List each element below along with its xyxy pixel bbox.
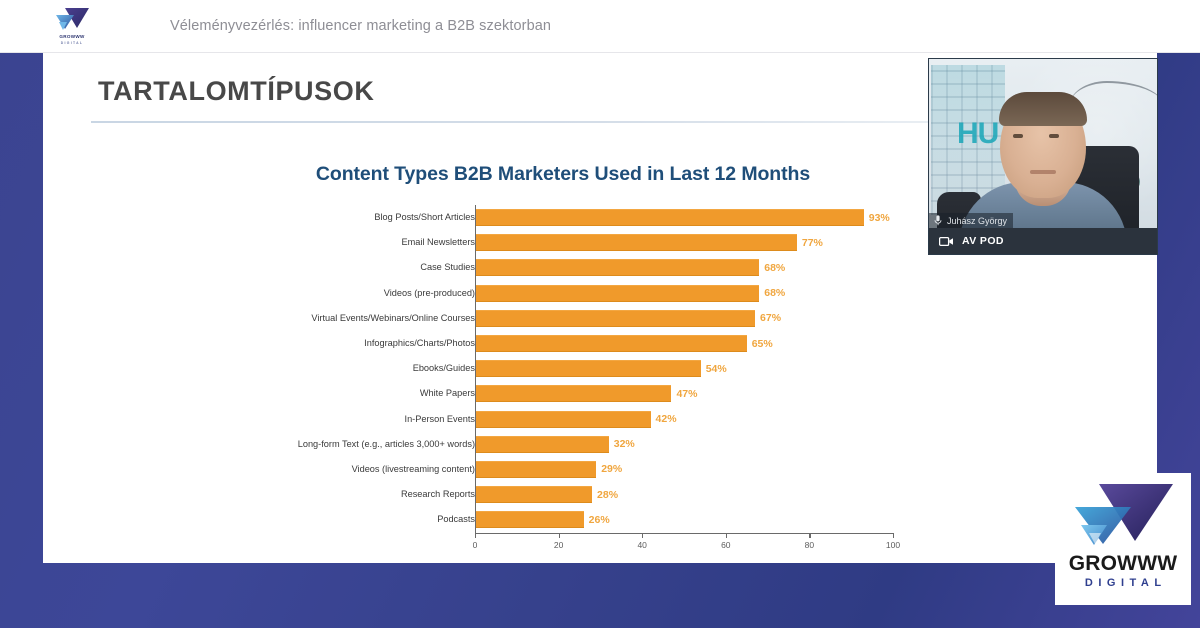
bar: [475, 411, 651, 428]
bar-row: Email Newsletters77%: [193, 230, 933, 255]
bar-row: Videos (pre-produced)68%: [193, 281, 933, 306]
chart-plot-area: Blog Posts/Short Articles93%Email Newsle…: [193, 205, 933, 535]
bar-row: Research Reports28%: [193, 482, 933, 507]
participant-name-bar: Juhász György: [929, 213, 1013, 228]
bar-category-label: Blog Posts/Short Articles: [215, 212, 475, 223]
bar: [475, 335, 747, 352]
bar: [475, 209, 864, 226]
bar: [475, 285, 759, 302]
bar-track: 68%: [475, 255, 893, 280]
bar-row: In-Person Events42%: [193, 407, 933, 432]
bar-value-label: 29%: [601, 463, 622, 475]
participant-name: Juhász György: [947, 216, 1007, 226]
header-logo-wordmark: GROWWW DIGITAL: [59, 34, 84, 46]
bar-row: Podcasts26%: [193, 507, 933, 532]
bar: [475, 461, 596, 478]
bar-track: 42%: [475, 407, 893, 432]
video-camera-icon: [939, 236, 954, 247]
bar-category-label: Videos (livestreaming content): [215, 464, 475, 475]
bar: [475, 234, 797, 251]
bar-track: 28%: [475, 482, 893, 507]
bar-row: Virtual Events/Webinars/Online Courses67…: [193, 306, 933, 331]
screen: GROWWW DIGITAL Véleményvezérlés: influen…: [0, 0, 1200, 628]
bar-value-label: 67%: [760, 312, 781, 324]
bar-category-label: In-Person Events: [215, 414, 475, 425]
bar-track: 32%: [475, 432, 893, 457]
webcam-video-tile[interactable]: HU RO Juhász György: [928, 58, 1158, 255]
bar-value-label: 77%: [802, 237, 823, 249]
bar-value-label: 26%: [589, 514, 610, 526]
brand-logo-box: GROWWW DIGITAL: [1055, 473, 1191, 605]
bar-track: 68%: [475, 281, 893, 306]
bar-category-label: Research Reports: [215, 489, 475, 500]
bar-category-label: Virtual Events/Webinars/Online Courses: [215, 313, 475, 324]
bar-value-label: 65%: [752, 338, 773, 350]
bar: [475, 310, 755, 327]
bar-row: Infographics/Charts/Photos65%: [193, 331, 933, 356]
bar-row: Videos (livestreaming content)29%: [193, 457, 933, 482]
wall-chart-line: [1069, 81, 1158, 107]
presentation-title: Véleményvezérlés: influencer marketing a…: [170, 18, 551, 34]
bar-track: 54%: [475, 356, 893, 381]
brand-name: GROWWW: [1055, 553, 1191, 575]
bar-row: Blog Posts/Short Articles93%: [193, 205, 933, 230]
participant-hair: [999, 92, 1087, 126]
bar-row: Ebooks/Guides54%: [193, 356, 933, 381]
app-header: GROWWW DIGITAL Véleményvezérlés: influen…: [0, 0, 1200, 53]
bar-value-label: 42%: [656, 413, 677, 425]
bar-row: Case Studies68%: [193, 255, 933, 280]
header-logo[interactable]: GROWWW DIGITAL: [52, 6, 92, 48]
wall-text-hu: HU: [957, 117, 998, 151]
bar-track: 29%: [475, 457, 893, 482]
bar-track: 93%: [475, 205, 893, 230]
bar: [475, 486, 592, 503]
bar-category-label: Infographics/Charts/Photos: [215, 338, 475, 349]
bar-category-label: Long-form Text (e.g., articles 3,000+ wo…: [215, 439, 475, 450]
bar-value-label: 28%: [597, 489, 618, 501]
bar-category-label: Ebooks/Guides: [215, 363, 475, 374]
growww-triangles-logo-icon: [1069, 481, 1177, 551]
participant-mouth: [1030, 170, 1056, 174]
bar-category-label: White Papers: [215, 388, 475, 399]
y-axis-line: [475, 205, 476, 533]
bar: [475, 360, 701, 377]
bar-value-label: 32%: [614, 438, 635, 450]
title-divider: [91, 121, 936, 123]
slide-title: TARTALOMTÍPUSOK: [98, 76, 374, 107]
bar-category-label: Case Studies: [215, 262, 475, 273]
bar-track: 26%: [475, 507, 893, 532]
bar-track: 77%: [475, 230, 893, 255]
participant-eye-right: [1049, 134, 1059, 138]
participant-eye-left: [1013, 134, 1023, 138]
bar-category-label: Videos (pre-produced): [215, 288, 475, 299]
bar-value-label: 93%: [869, 212, 890, 224]
av-pod-bar[interactable]: AV POD: [929, 228, 1157, 254]
bar-track: 65%: [475, 331, 893, 356]
bar: [475, 436, 609, 453]
bar-track: 47%: [475, 381, 893, 406]
bar-value-label: 54%: [706, 363, 727, 375]
x-axis-ticks: 020406080100: [475, 533, 893, 555]
microphone-icon: [934, 215, 942, 226]
bar-row: Long-form Text (e.g., articles 3,000+ wo…: [193, 432, 933, 457]
bar-category-label: Podcasts: [215, 514, 475, 525]
bar-rows: Blog Posts/Short Articles93%Email Newsle…: [193, 205, 933, 532]
bar-value-label: 47%: [676, 388, 697, 400]
chart-title: Content Types B2B Marketers Used in Last…: [193, 163, 933, 186]
bar-category-label: Email Newsletters: [215, 237, 475, 248]
bar: [475, 385, 671, 402]
bar-row: White Papers47%: [193, 381, 933, 406]
bar-track: 67%: [475, 306, 893, 331]
growww-w-mark-icon: [54, 6, 90, 32]
bar-value-label: 68%: [764, 262, 785, 274]
bar: [475, 259, 759, 276]
brand-subtitle: DIGITAL: [1055, 577, 1191, 589]
bar: [475, 511, 584, 528]
bar-value-label: 68%: [764, 287, 785, 299]
av-pod-label: AV POD: [962, 235, 1004, 247]
